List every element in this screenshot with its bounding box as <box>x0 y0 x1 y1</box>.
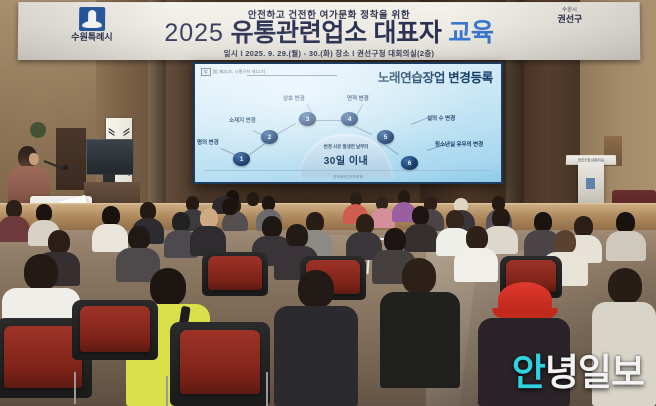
speaker-face <box>29 153 39 165</box>
audience-head <box>262 216 282 238</box>
chair-seatback-foreground <box>80 306 150 352</box>
emblem-right-name: 권선구 <box>528 14 612 25</box>
slide-label-1: 명의 변경 <box>197 140 219 147</box>
emblem-gwonseon-gu: 수원시 권선구 <box>528 7 612 55</box>
chair-seatback-foreground <box>180 330 260 394</box>
audience-torso-foreground <box>380 292 460 388</box>
banner-title-main: 유통관련업소 대표자 <box>231 19 442 47</box>
slide-label-5: 실의 수 변경 <box>427 116 455 123</box>
audience-head <box>574 216 593 237</box>
audience-torso <box>92 224 128 252</box>
audience-head <box>128 226 150 250</box>
slide-label-6: 청소년실 유무의 변경 <box>431 142 487 149</box>
slide-node-6: 6 <box>401 156 418 170</box>
audience-torso <box>606 231 646 261</box>
dome-note-line1: 변경 사유 발생한 날부터 <box>299 144 393 150</box>
slide-node-5: 5 <box>377 130 394 144</box>
red-cap-brim <box>492 308 558 318</box>
audience-head <box>446 210 464 230</box>
watermark-rest: 녕일보 <box>545 352 644 393</box>
slide-label-3: 상호 변경 <box>283 96 305 103</box>
watermark-accent-char: 안 <box>512 352 545 393</box>
seminar-photo: 수원특례시 안전하고 건전한 여가문화 정착을 위한 2025 유통관련업소 대… <box>0 0 656 406</box>
audience-head <box>412 206 429 225</box>
audience-head <box>222 198 238 215</box>
slide-node-4-num: 4 <box>348 116 352 123</box>
slide-label-2: 소재지 변경 <box>229 118 256 125</box>
audience-head <box>247 192 259 206</box>
audience-head <box>286 224 308 248</box>
emblem-right-sub: 수원시 <box>528 7 612 14</box>
dome-note-line2: 30일 이내 <box>299 152 393 167</box>
slide-title-rule <box>247 75 337 76</box>
chair-leg <box>166 376 168 406</box>
slide-title: 노래연습장업 변경등록 <box>378 67 493 86</box>
audience-head <box>172 212 190 232</box>
slide-node-3-num: 3 <box>306 116 310 123</box>
audience-head <box>466 226 488 250</box>
slide-legal-badge: 법 <box>201 68 211 76</box>
confidence-monitor <box>86 139 134 175</box>
slide-node-3: 3 <box>299 112 316 126</box>
wall-cabinet <box>56 128 86 190</box>
slide-legal-text: [법 제21조, 시행규칙 제11조] <box>213 69 266 74</box>
audience-head-bald <box>200 208 218 228</box>
audience-head-foreground <box>24 254 58 290</box>
audience-head-foreground <box>298 270 334 308</box>
slide-node-5-num: 5 <box>384 134 388 141</box>
publisher-watermark: 안녕일보 <box>512 354 644 392</box>
audience-head <box>534 212 552 232</box>
chair-leg <box>266 372 268 406</box>
audience-head <box>616 212 635 233</box>
slide-node-6-num: 6 <box>408 160 412 167</box>
audience-head <box>384 228 406 252</box>
slide-node-4: 4 <box>341 112 358 126</box>
banner-title-accent: 교육 <box>448 19 494 47</box>
slide-node-2-num: 2 <box>268 134 272 141</box>
audience-torso <box>0 216 30 242</box>
lectern-seal-icon <box>586 178 595 189</box>
audience-head <box>102 206 120 226</box>
audience-head <box>306 212 324 232</box>
audience-torso <box>454 248 498 282</box>
slide-footer: 한국음악콘텐츠협회 <box>195 174 501 179</box>
audience-head-foreground <box>150 268 186 306</box>
arc-connector-1-2 <box>247 142 267 157</box>
audience-head <box>356 214 374 234</box>
audience-head <box>554 230 576 254</box>
banner-year: 2025 <box>164 19 224 47</box>
slide-node-1: 1 <box>233 152 250 166</box>
decor-plant <box>30 122 46 138</box>
slide-bottom-rule <box>205 170 491 171</box>
slide-node-2: 2 <box>261 130 278 144</box>
audience-torso <box>404 224 438 252</box>
chair-leg <box>74 372 76 404</box>
slide-node-1-num: 1 <box>240 156 244 163</box>
chair-seatback <box>208 256 262 290</box>
leader-line-4 <box>356 104 363 117</box>
audience-head <box>48 230 70 254</box>
slide-label-4: 면적 변경 <box>347 96 369 103</box>
projection-screen: 법[법 제21조, 시행규칙 제11조] 노래연습장업 변경등록 변경 사유 발… <box>195 64 501 182</box>
audience-head-foreground <box>402 258 436 294</box>
audience-head-foreground <box>608 268 642 304</box>
audience-torso-foreground <box>274 306 358 406</box>
event-banner: 수원특례시 안전하고 건전한 여가문화 정착을 위한 2025 유통관련업소 대… <box>18 2 641 60</box>
audience-head <box>492 208 510 228</box>
chair-seatback-foreground <box>4 326 82 388</box>
microphone-icon <box>63 165 68 170</box>
